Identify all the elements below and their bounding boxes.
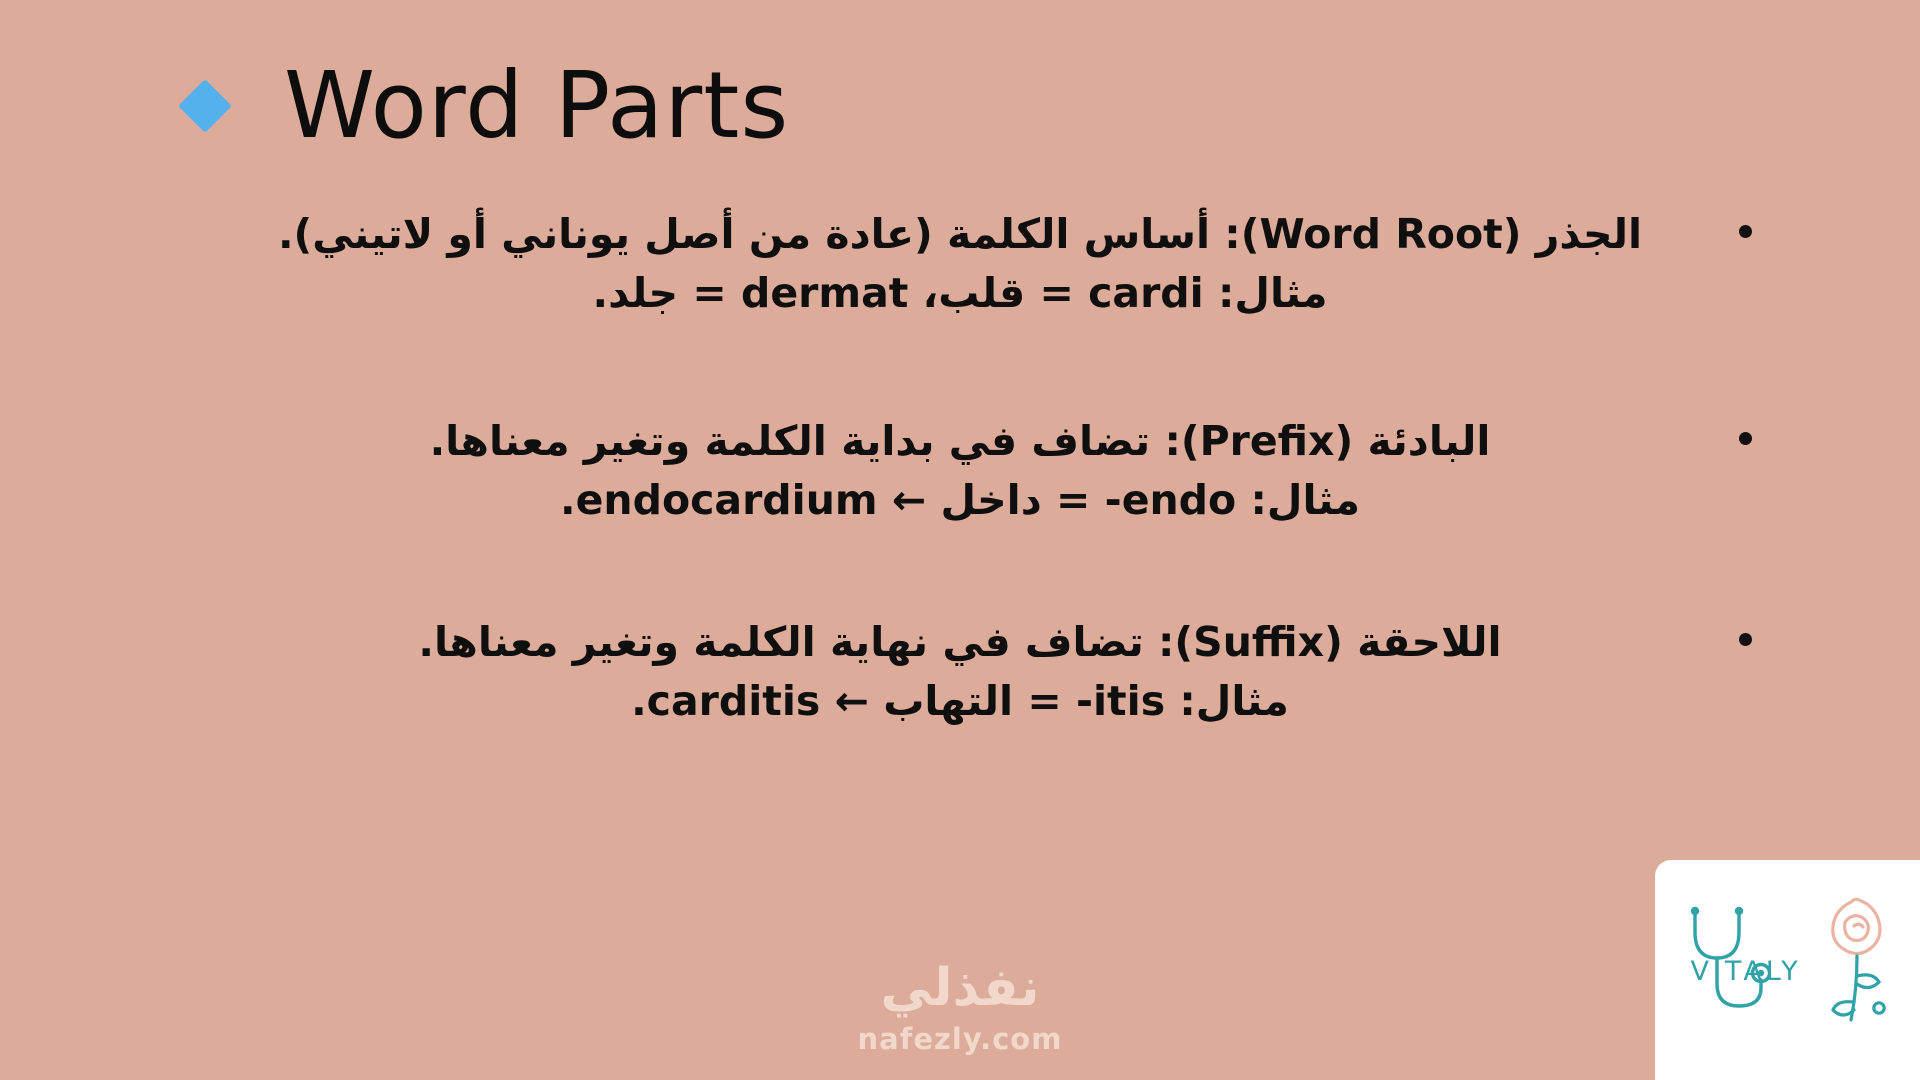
bullet-dot-icon xyxy=(1739,225,1752,238)
list-item: اللاحقة (Suffix): تضاف في نهاية الكلمة و… xyxy=(120,613,1800,732)
slide-title-row: Word Parts xyxy=(0,58,1920,155)
list-item: البادئة (Prefix): تضاف في بداية الكلمة و… xyxy=(120,412,1800,531)
logo-inner: VITALY xyxy=(1673,880,1903,1060)
flower-stem-icon xyxy=(1833,956,1884,1020)
list-item-example: مثال: ‎-endo = داخل ← endocardium. xyxy=(240,471,1680,530)
bullet-dot-icon xyxy=(1739,432,1752,445)
list-item-example: مثال: cardi = قلب، dermat = جلد. xyxy=(240,264,1680,323)
watermark: نفذلي nafezly.com xyxy=(0,961,1920,1056)
page-title: Word Parts xyxy=(284,58,789,155)
list-item-example: مثال: ‎-itis = التهاب ← carditis. xyxy=(240,672,1680,731)
slide-canvas: Word Parts الجذر (Word Root): أساس الكلم… xyxy=(0,0,1920,1080)
logo-card: VITALY xyxy=(1655,860,1920,1080)
bullet-dot-icon xyxy=(1739,633,1752,646)
logo-wordmark: VITALY xyxy=(1691,956,1802,987)
list-item-text: البادئة (Prefix): تضاف في بداية الكلمة و… xyxy=(240,412,1680,471)
blue-diamond-icon xyxy=(178,79,232,133)
bullet-list: الجذر (Word Root): أساس الكلمة (عادة من … xyxy=(120,205,1800,732)
list-item: الجذر (Word Root): أساس الكلمة (عادة من … xyxy=(120,205,1800,324)
flower-icon xyxy=(1832,899,1879,953)
watermark-url-text: nafezly.com xyxy=(0,1022,1920,1056)
watermark-arabic-text: نفذلي xyxy=(0,961,1920,1016)
list-item-text: الجذر (Word Root): أساس الكلمة (عادة من … xyxy=(240,205,1680,264)
list-item-text: اللاحقة (Suffix): تضاف في نهاية الكلمة و… xyxy=(240,613,1680,672)
